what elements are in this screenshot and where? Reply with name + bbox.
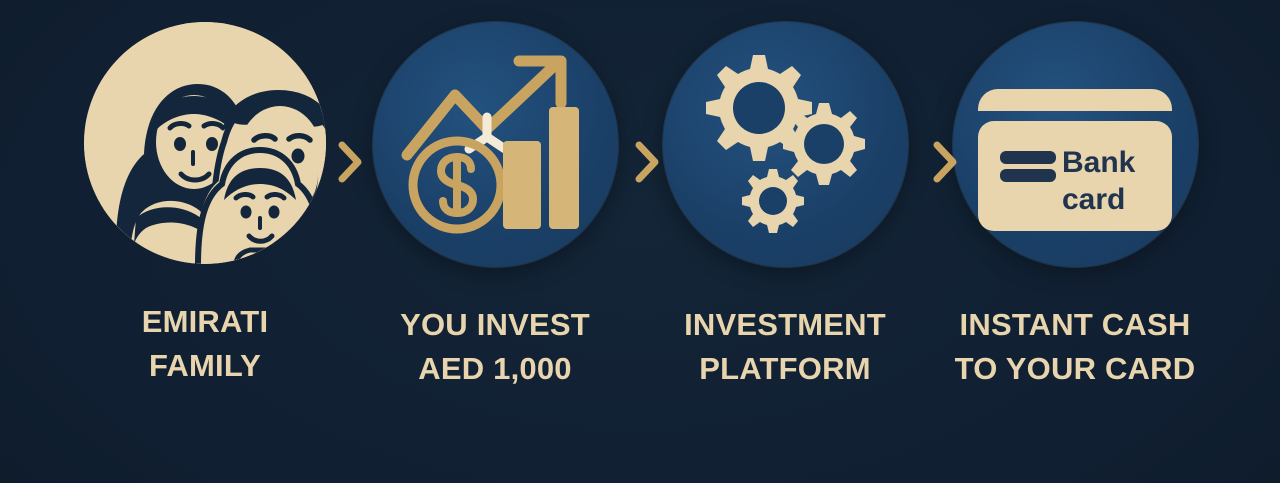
- step-instant-cash[interactable]: Bank card INSTANT CASH TO YOUR CARD: [930, 0, 1220, 442]
- step-label: YOU INVEST AED 1,000: [400, 303, 590, 391]
- investment-growth-chart-icon: [395, 45, 595, 245]
- step-label-line1: INVESTMENT: [684, 307, 886, 342]
- step-label: INSTANT CASH TO YOUR CARD: [955, 303, 1196, 391]
- step-you-invest[interactable]: YOU INVEST AED 1,000: [350, 0, 640, 442]
- step-investment-platform[interactable]: INVESTMENT PLATFORM: [640, 0, 930, 442]
- emirati-family-icon: [84, 22, 326, 264]
- emirati-family-circle: [84, 22, 326, 264]
- gears-icon: [685, 45, 885, 245]
- bank-card-circle: Bank card: [953, 22, 1198, 267]
- step-label-line2: FAMILY: [142, 344, 269, 388]
- bank-card-text-line1: Bank: [1062, 146, 1136, 179]
- steps-row: EMIRATI FAMILY: [0, 0, 1280, 483]
- bank-card-text-line2: card: [1062, 183, 1125, 216]
- step-label-line1: EMIRATI: [142, 304, 269, 339]
- step-label-line1: INSTANT CASH: [960, 307, 1191, 342]
- step-label-line2: TO YOUR CARD: [955, 347, 1196, 391]
- step-label-line2: AED 1,000: [400, 347, 590, 391]
- step-label: EMIRATI FAMILY: [142, 300, 269, 388]
- step-emirati-family[interactable]: EMIRATI FAMILY: [60, 0, 350, 442]
- step-label-line2: PLATFORM: [684, 347, 886, 391]
- investment-flow-infographic: EMIRATI FAMILY: [0, 0, 1280, 483]
- bank-card-icon: Bank card: [970, 45, 1180, 245]
- investment-growth-circle: [373, 22, 618, 267]
- gears-circle: [663, 22, 908, 267]
- step-label-line1: YOU INVEST: [400, 307, 590, 342]
- step-label: INVESTMENT PLATFORM: [684, 303, 886, 391]
